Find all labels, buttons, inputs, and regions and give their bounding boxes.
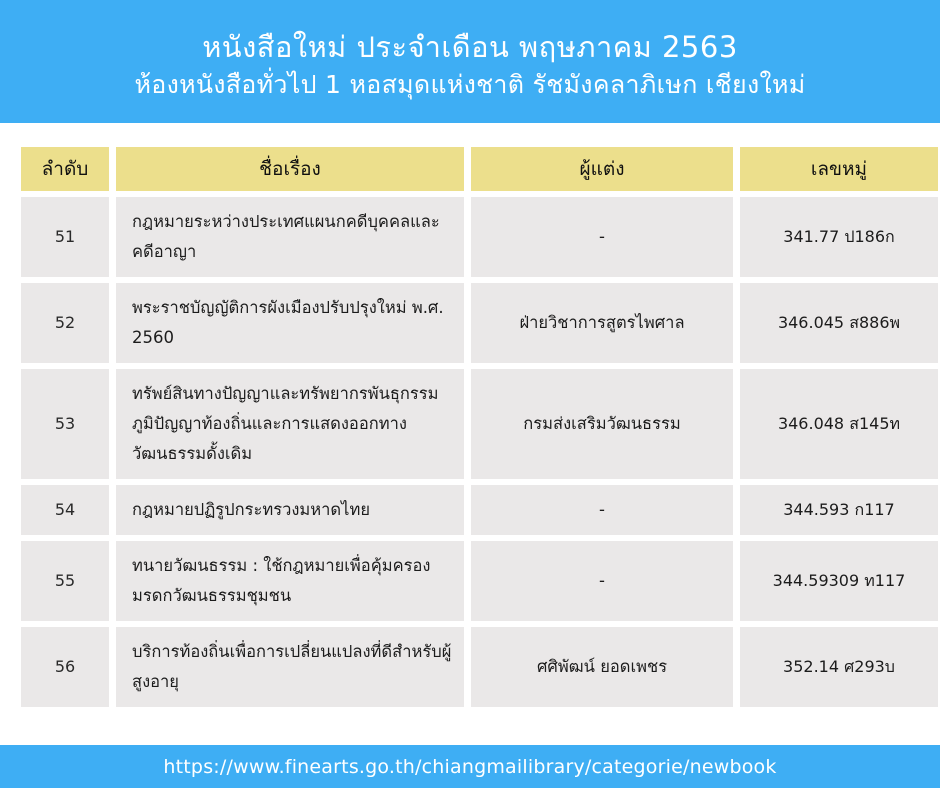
row-title: กฎหมายระหว่างประเทศแผนกคดีบุคคลและคดีอาญ… [116,197,464,277]
row-author: กรมส่งเสริมวัฒนธรรม [471,369,733,479]
row-number: 52 [21,283,109,363]
row-call-number: 344.59309 ท117 [740,541,938,621]
row-author: - [471,485,733,535]
table-row: 56 บริการท้องถิ่นเพื่อการเปลี่ยนแปลงที่ด… [21,627,938,707]
row-number: 51 [21,197,109,277]
row-title: บริการท้องถิ่นเพื่อการเปลี่ยนแปลงที่ดีสำ… [116,627,464,707]
footer-bar: https://www.finearts.go.th/chiangmailibr… [0,745,940,788]
row-call-number: 346.048 ส145ท [740,369,938,479]
row-call-number: 341.77 ป186ก [740,197,938,277]
table-row: 52 พระราชบัญญัติการผังเมืองปรับปรุงใหม่ … [21,283,938,363]
row-title: กฎหมายปฏิรูปกระทรวงมหาดไทย [116,485,464,535]
column-header-author: ผู้แต่ง [471,147,733,191]
row-number: 55 [21,541,109,621]
row-number: 54 [21,485,109,535]
column-header-title: ชื่อเรื่อง [116,147,464,191]
row-author: - [471,541,733,621]
page-title: หนังสือใหม่ ประจำเดือน พฤษภาคม 2563 [202,27,738,67]
table-header: ลำดับ ชื่อเรื่อง ผู้แต่ง เลขหมู่ [21,147,938,191]
row-call-number: 346.045 ส886พ [740,283,938,363]
row-title: ทรัพย์สินทางปัญญาและทรัพยากรพันธุกรรมภูม… [116,369,464,479]
row-number: 56 [21,627,109,707]
table-row: 54 กฎหมายปฏิรูปกระทรวงมหาดไทย - 344.593 … [21,485,938,535]
column-header-no: ลำดับ [21,147,109,191]
row-author: - [471,197,733,277]
table-row: 51 กฎหมายระหว่างประเทศแผนกคดีบุคคลและคดี… [21,197,938,277]
table-body: 51 กฎหมายระหว่างประเทศแผนกคดีบุคคลและคดี… [21,197,938,707]
library-website-link[interactable]: https://www.finearts.go.th/chiangmailibr… [163,756,776,778]
row-number: 53 [21,369,109,479]
book-table-container: ลำดับ ชื่อเรื่อง ผู้แต่ง เลขหมู่ 51 กฎหม… [0,123,940,713]
new-books-table: ลำดับ ชื่อเรื่อง ผู้แต่ง เลขหมู่ 51 กฎหม… [14,141,940,713]
table-row: 55 ทนายวัฒนธรรม : ใช้กฎหมายเพื่อคุ้มครอง… [21,541,938,621]
row-call-number: 352.14 ศ293บ [740,627,938,707]
row-call-number: 344.593 ก117 [740,485,938,535]
header-banner: หนังสือใหม่ ประจำเดือน พฤษภาคม 2563 ห้อง… [0,0,940,123]
page-subtitle: ห้องหนังสือทั่วไป 1 หอสมุดแห่งชาติ รัชมั… [134,67,805,103]
row-title: ทนายวัฒนธรรม : ใช้กฎหมายเพื่อคุ้มครองมรด… [116,541,464,621]
table-row: 53 ทรัพย์สินทางปัญญาและทรัพยากรพันธุกรรม… [21,369,938,479]
table-header-row: ลำดับ ชื่อเรื่อง ผู้แต่ง เลขหมู่ [21,147,938,191]
row-title: พระราชบัญญัติการผังเมืองปรับปรุงใหม่ พ.ศ… [116,283,464,363]
column-header-call: เลขหมู่ [740,147,938,191]
row-author: ฝ่ายวิชาการสูตรไพศาล [471,283,733,363]
row-author: ศศิพัฒน์ ยอดเพชร [471,627,733,707]
